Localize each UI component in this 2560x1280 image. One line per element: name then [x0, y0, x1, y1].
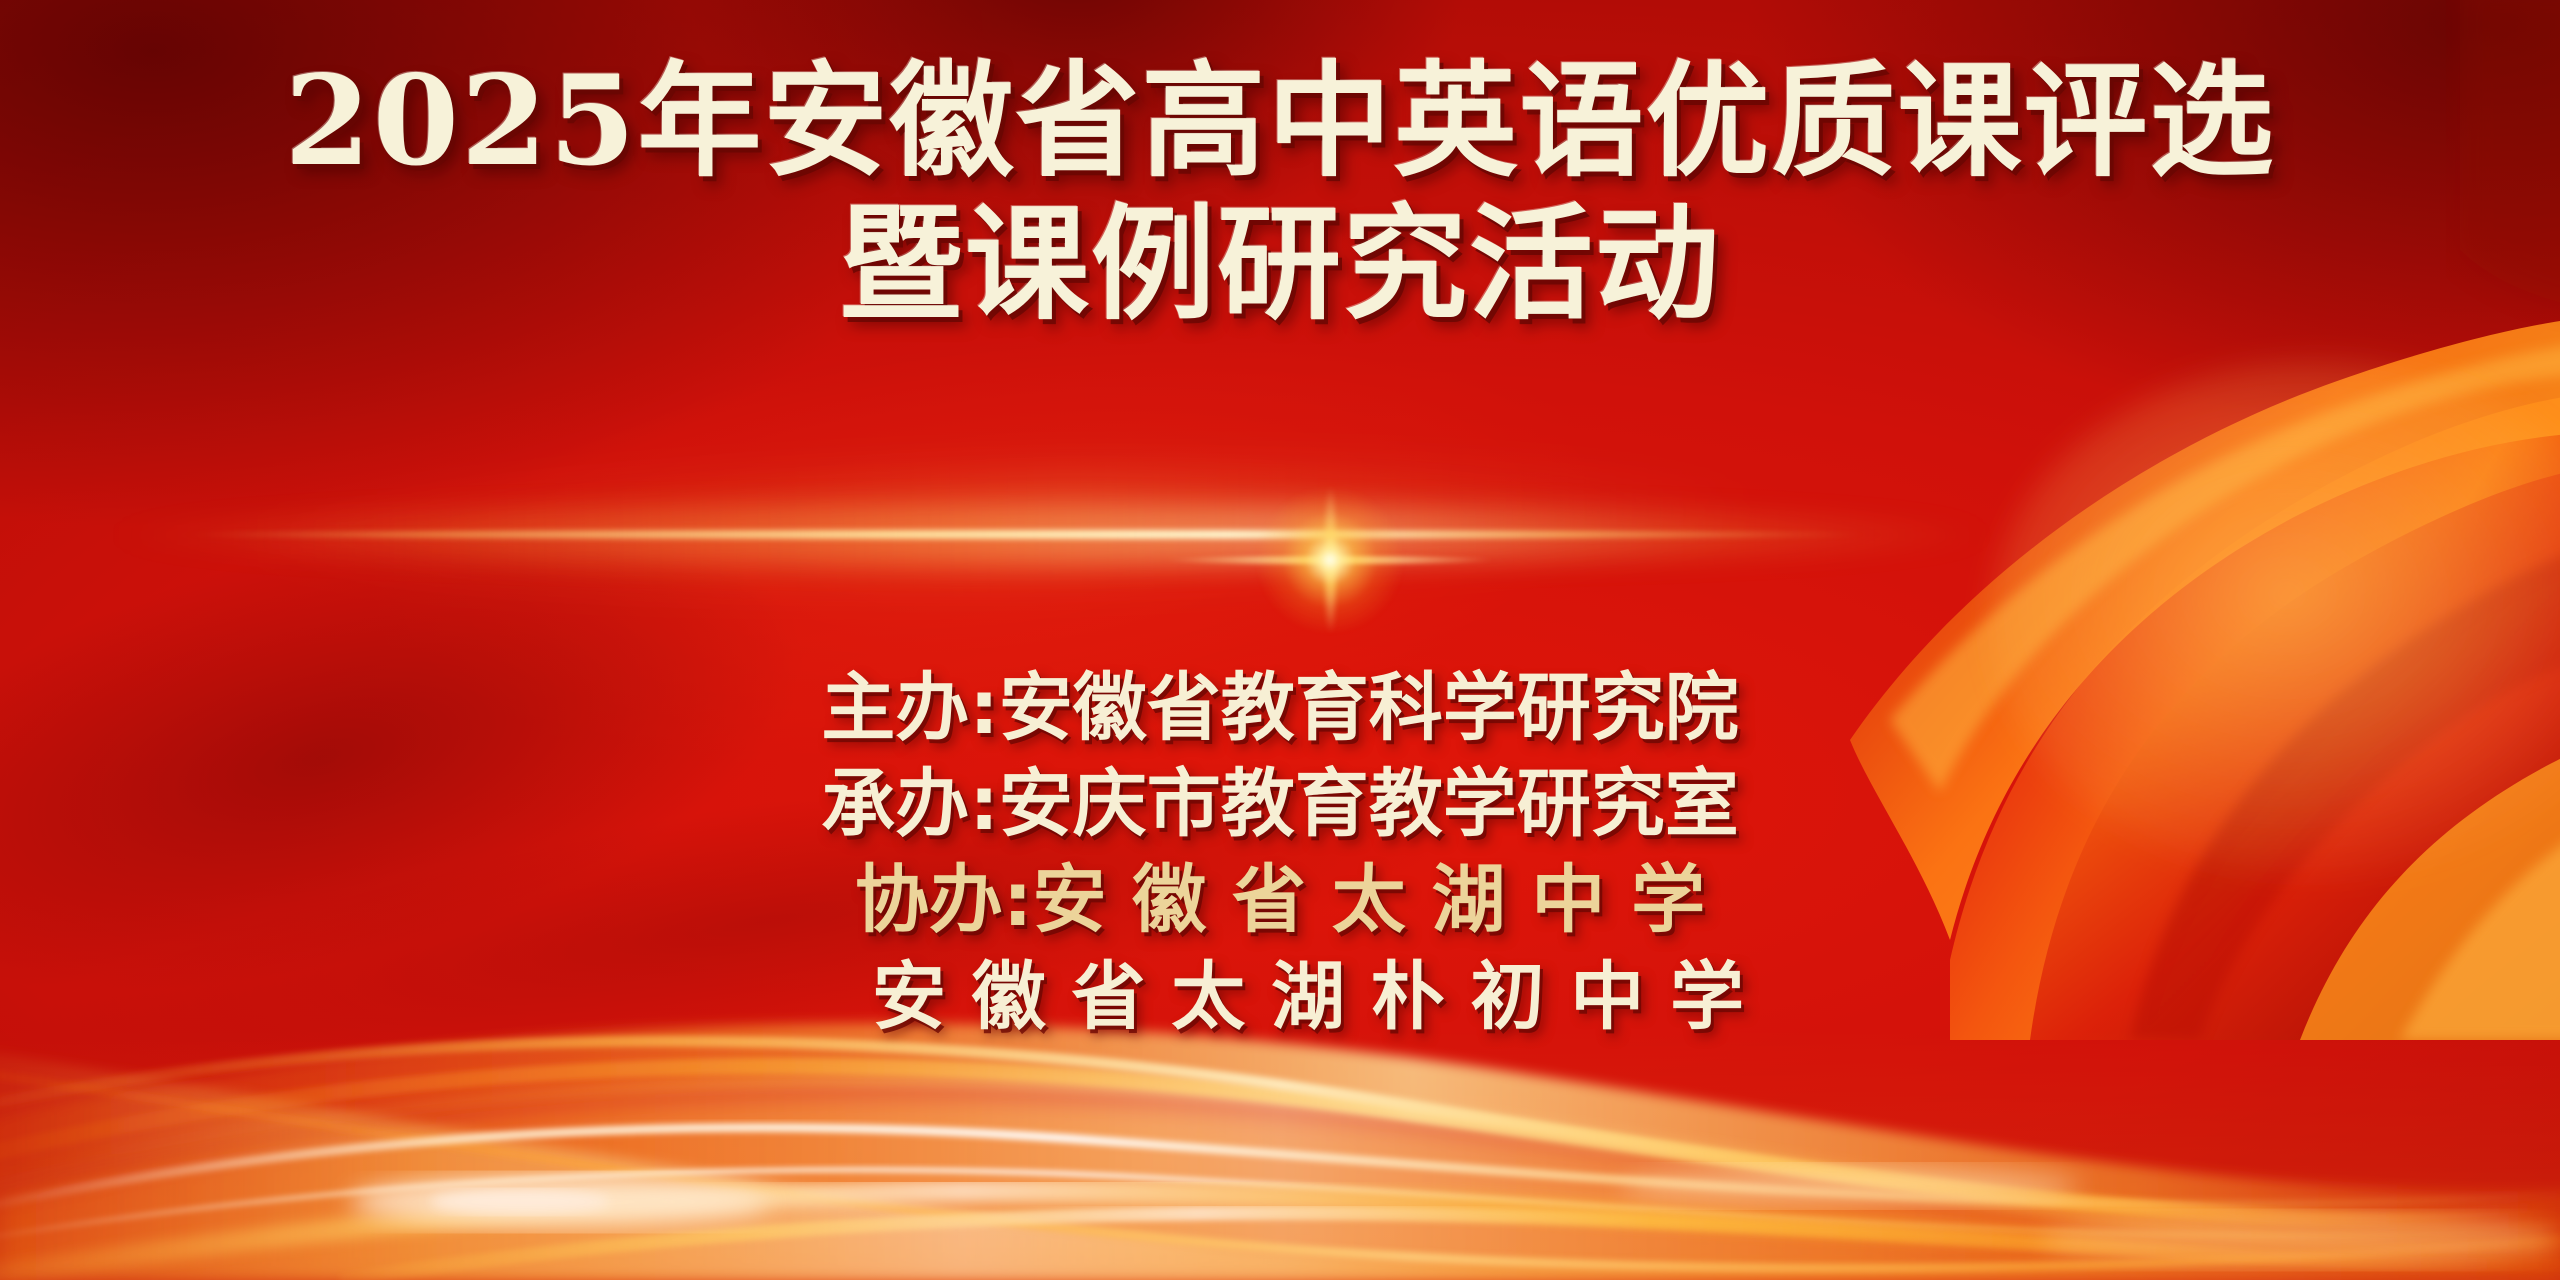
- organizer-name-cohost-secondary: 安 徽 省 太 湖 朴 初 中 学: [872, 954, 1744, 1040]
- banner-content: 2025年安徽省高中英语优质课评选 暨课例研究活动 主办:安徽省教育科学研究院 …: [0, 0, 2560, 1280]
- organizer-name-coordinator: 安庆市教育教学研究室: [999, 761, 1739, 847]
- organizer-label-cohost: 协办:: [855, 857, 1033, 943]
- title-line-1: 2025年安徽省高中英语优质课评选: [0, 58, 2560, 187]
- organizer-row-cohost: 协办:安 徽 省 太 湖 中 学: [0, 852, 2560, 948]
- organizer-row-cohost-secondary: 安 徽 省 太 湖 朴 初 中 学: [0, 949, 2560, 1045]
- title-line-2: 暨课例研究活动: [0, 201, 2560, 330]
- organizer-label-coordinator: 承办:: [821, 761, 999, 847]
- organizer-name-host: 安徽省教育科学研究院: [999, 665, 1739, 751]
- organizer-row-coordinator: 承办:安庆市教育教学研究室: [0, 756, 2560, 852]
- organizer-name-cohost: 安 徽 省 太 湖 中 学: [1033, 857, 1706, 943]
- organizer-label-host: 主办:: [821, 665, 999, 751]
- banner-title: 2025年安徽省高中英语优质课评选 暨课例研究活动: [0, 58, 2560, 330]
- organizer-list: 主办:安徽省教育科学研究院 承办:安庆市教育教学研究室 协办:安 徽 省 太 湖…: [0, 660, 2560, 1045]
- organizer-row-host: 主办:安徽省教育科学研究院: [0, 660, 2560, 756]
- event-banner: 2025年安徽省高中英语优质课评选 暨课例研究活动 主办:安徽省教育科学研究院 …: [0, 0, 2560, 1280]
